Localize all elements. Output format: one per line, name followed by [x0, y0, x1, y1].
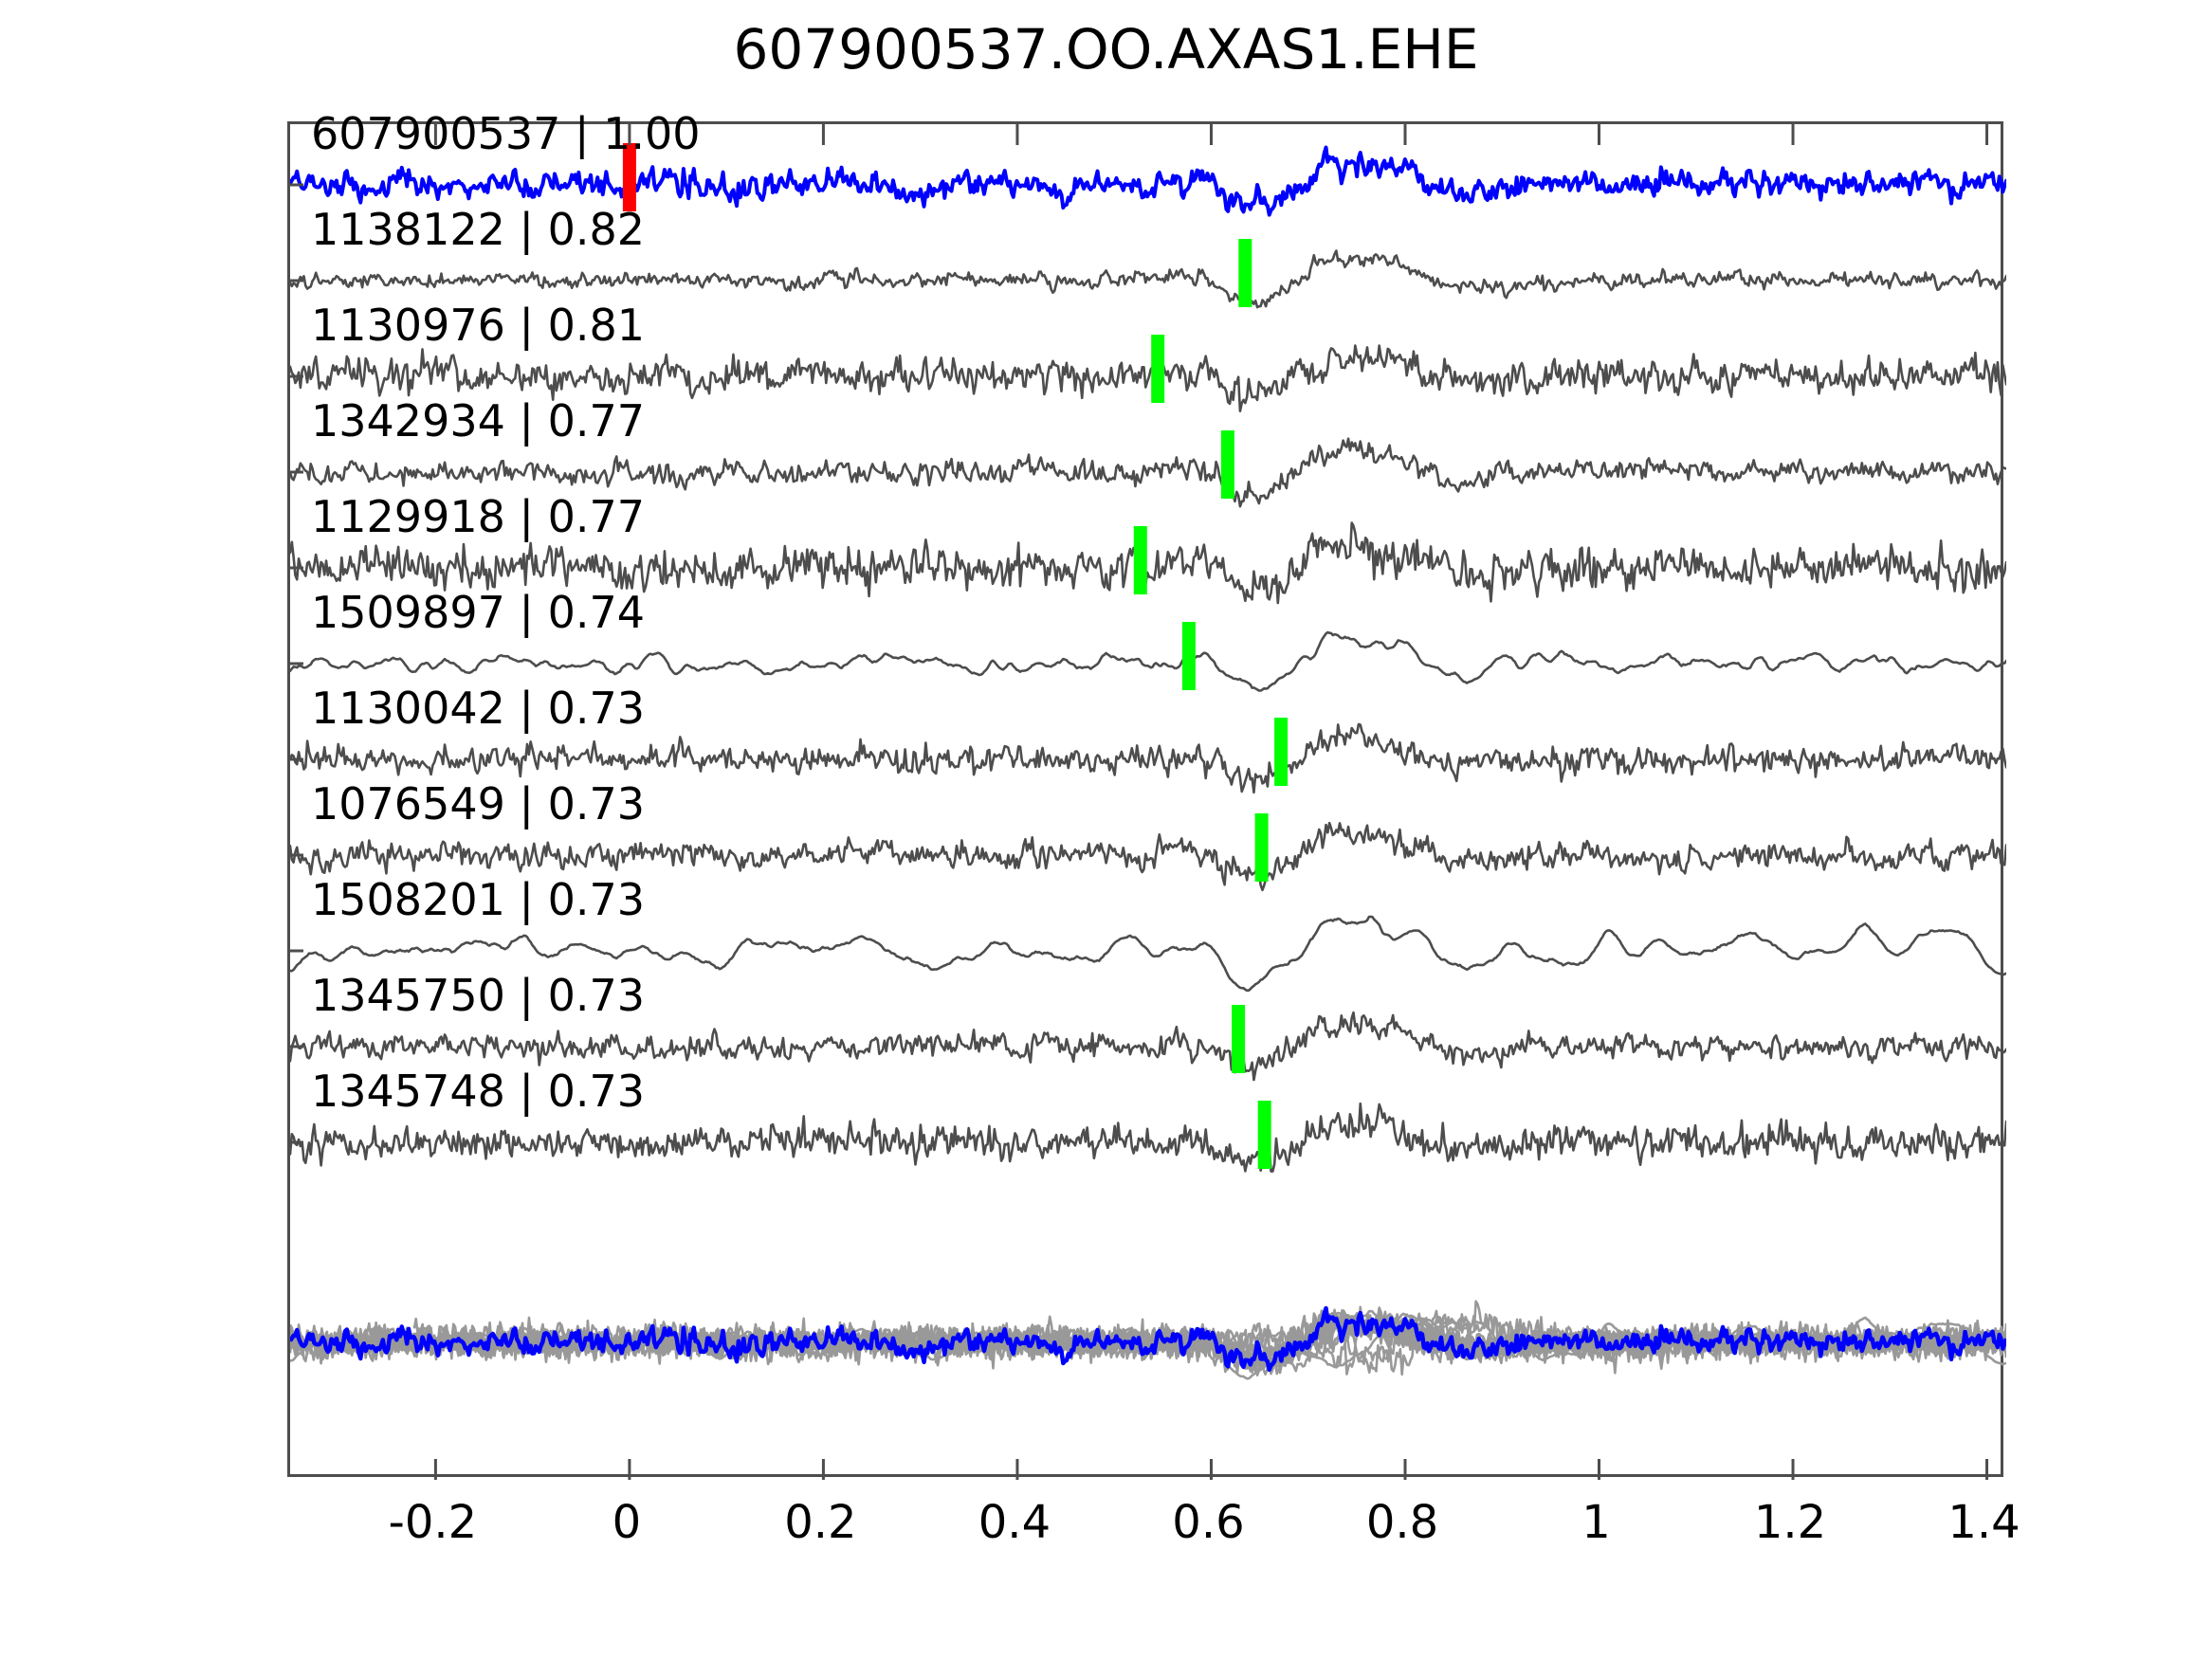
trace-label-1129918: 1129918 | 0.77: [311, 491, 645, 542]
x-tick-label: 0: [612, 1496, 642, 1549]
trace-label-1342934: 1342934 | 0.77: [311, 395, 645, 447]
detection-pick-marker: [1221, 430, 1234, 499]
figure-root: 607900537.OO.AXAS1.EHE 607900537 | 1.001…: [0, 0, 2212, 1659]
trace-label-1130042: 1130042 | 0.73: [311, 683, 645, 734]
trace-label-1508201: 1508201 | 0.73: [311, 874, 645, 925]
trace-label-1509897: 1509897 | 0.74: [311, 587, 645, 638]
detection-pick-marker: [1134, 526, 1147, 594]
trace-label-1076549: 1076549 | 0.73: [311, 778, 645, 829]
detection-pick-marker: [1232, 1005, 1245, 1073]
detection-pick-marker: [1274, 718, 1288, 786]
trace-label-1345748: 1345748 | 0.73: [311, 1066, 645, 1117]
page-title: 607900537.OO.AXAS1.EHE: [0, 17, 2212, 82]
detection-pick-marker: [1255, 813, 1269, 882]
x-tick-label: 0.6: [1172, 1496, 1244, 1549]
detection-pick-marker: [1258, 1101, 1271, 1169]
overlay-trace: [290, 1310, 2006, 1376]
overlay-stack-panel: [290, 1302, 2006, 1378]
x-tick-label: -0.2: [389, 1496, 478, 1549]
x-tick-label: 1.4: [1947, 1496, 2020, 1549]
x-tick-label: 1.2: [1754, 1496, 1826, 1549]
trace-label-1138122: 1138122 | 0.82: [311, 204, 645, 255]
x-axis-tick-labels: -0.200.20.40.60.811.21.4: [0, 1496, 2212, 1572]
x-tick-label: 0.4: [978, 1496, 1051, 1549]
x-tick-label: 0.2: [784, 1496, 856, 1549]
detection-pick-marker: [1151, 335, 1164, 403]
detection-pick-marker: [1238, 239, 1252, 307]
trace-label-1130976: 1130976 | 0.81: [311, 300, 645, 351]
x-tick-label: 1: [1581, 1496, 1611, 1549]
x-tick-label: 0.8: [1366, 1496, 1438, 1549]
trace-label-1345750: 1345750 | 0.73: [311, 970, 645, 1021]
detection-pick-marker: [1182, 622, 1196, 690]
trace-label-607900537: 607900537 | 1.00: [311, 108, 701, 159]
